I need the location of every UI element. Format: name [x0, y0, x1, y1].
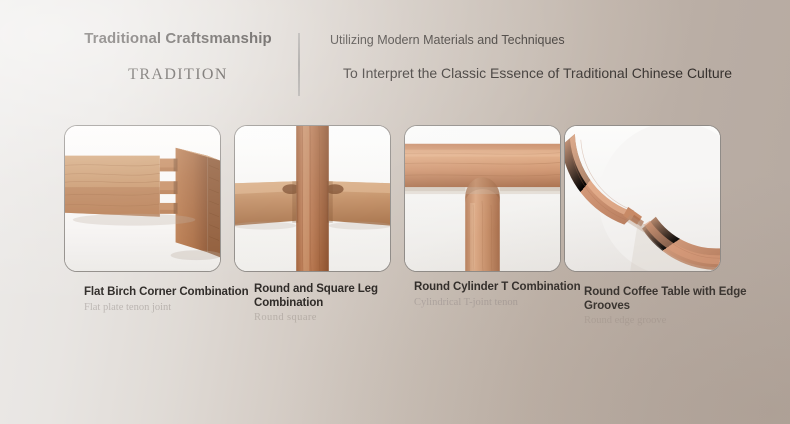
joint-caption-2-subtitle: Round square	[254, 312, 429, 324]
joint-caption-4: Round Coffee Table with Edge Grooves Rou…	[584, 286, 759, 327]
joint-card-1[interactable]	[64, 125, 221, 272]
joint-caption-3-subtitle: Cylindrical T-joint tenon	[414, 297, 589, 309]
round-cylinder-t-joint-photo	[405, 126, 560, 271]
joint-caption-2: Round and Square Leg Combination Round s…	[254, 283, 429, 324]
joint-caption-1-subtitle: Flat plate tenon joint	[84, 302, 259, 314]
joint-caption-3: Round Cylinder T Combination Cylindrical…	[414, 281, 589, 309]
joint-card-2[interactable]	[234, 125, 391, 272]
joint-card-3[interactable]	[404, 125, 561, 272]
joint-caption-3-title: Round Cylinder T Combination	[414, 281, 589, 295]
joint-caption-4-title: Round Coffee Table with Edge Grooves	[584, 286, 759, 313]
joint-caption-4-subtitle: Round edge groove	[584, 315, 759, 327]
joint-caption-2-title: Round and Square Leg Combination	[254, 283, 429, 310]
joint-card-4[interactable]	[564, 125, 721, 272]
round-square-leg-joint-photo	[235, 126, 390, 271]
joint-caption-1: Flat Birch Corner Combination Flat plate…	[84, 286, 259, 314]
flat-birch-corner-joint-photo	[65, 126, 220, 271]
round-coffee-table-edge-groove-photo	[565, 126, 720, 271]
joint-card-gallery	[0, 0, 790, 424]
joint-caption-1-title: Flat Birch Corner Combination	[84, 286, 259, 300]
slide-canvas: Traditional Craftsmanship TRADITION Util…	[0, 0, 790, 424]
